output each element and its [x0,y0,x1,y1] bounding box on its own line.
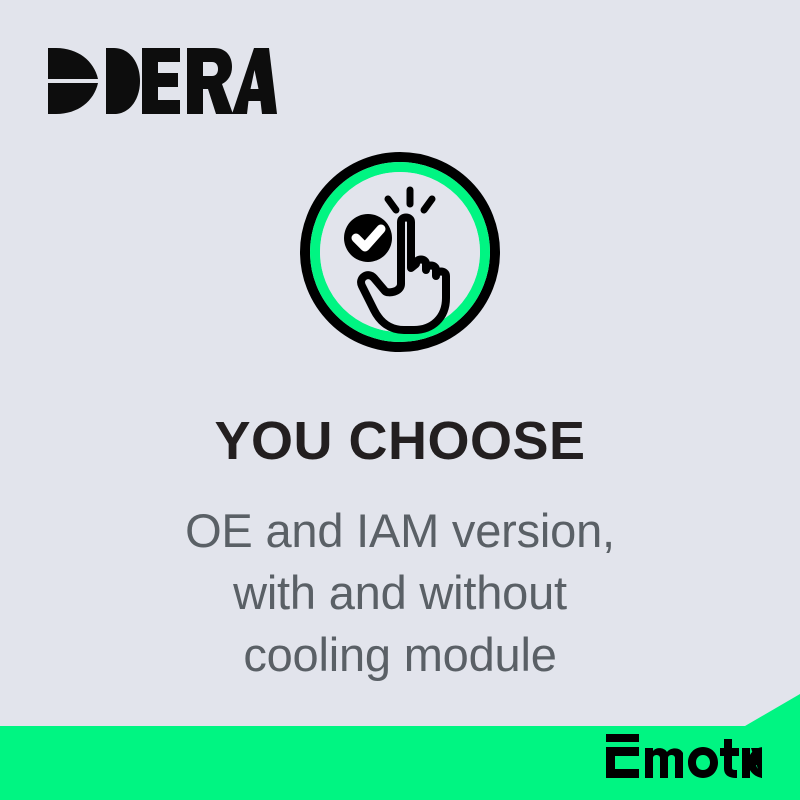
subtitle-line-2: with and without [0,562,800,624]
era-logo-mark-icon [48,48,140,114]
check-badge-icon [344,214,392,262]
hero-icon-circle [300,152,500,352]
era-wordmark [140,48,277,114]
subtitle-line-1: OE and IAM version, [0,500,800,562]
page-subtitle: OE and IAM version, with and without coo… [0,500,800,686]
emotive-logo [606,734,762,778]
page-title: YOU CHOOSE [0,413,800,470]
poster-canvas: YOU CHOOSE OE and IAM version, with and … [0,0,800,800]
subtitle-line-3: cooling module [0,624,800,686]
footer-banner [0,694,800,800]
era-brand-logo [48,48,277,114]
